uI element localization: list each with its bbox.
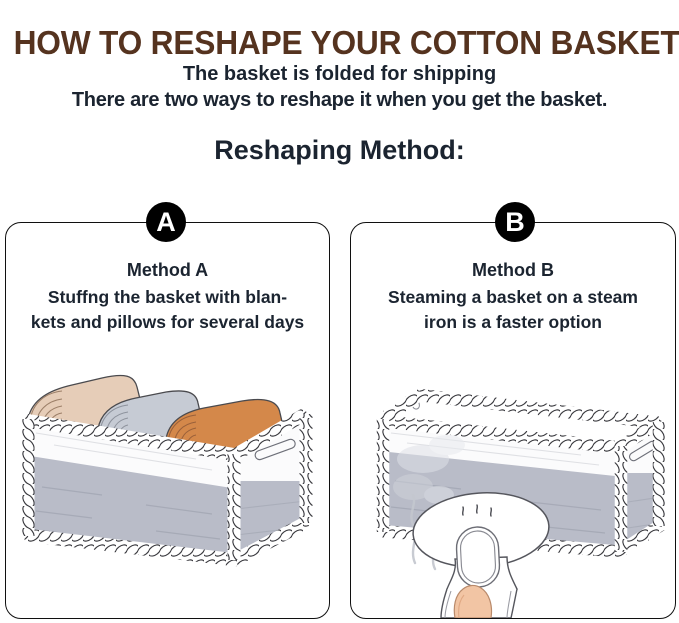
method-b-description: Steaming a basket on a steam iron is a f…	[359, 285, 667, 335]
method-a-desc-line-2: kets and pillows for several days	[31, 312, 304, 332]
basket-blankets-illustration	[6, 363, 329, 618]
method-a-title: Method A	[6, 259, 329, 282]
method-a-badge: A	[146, 202, 186, 242]
method-card-a: Method A Stuffng the basket with blan- k…	[5, 222, 330, 619]
basket-steam-iron-illustration	[351, 363, 675, 618]
page-title: HOW TO RESHAPE YOUR COTTON BASKET	[14, 24, 666, 62]
method-b-title: Method B	[351, 259, 675, 282]
subtitle-line-1: The basket is folded for shipping	[0, 62, 679, 87]
iron-button-inner	[460, 530, 497, 584]
method-b-desc-line-1: Steaming a basket on a steam	[388, 287, 638, 307]
method-b-desc-line-2: iron is a faster option	[424, 312, 602, 332]
method-b-badge: B	[495, 202, 535, 242]
infographic-page: HOW TO RESHAPE YOUR COTTON BASKET The ba…	[0, 0, 679, 623]
subtitle-line-2: There are two ways to reshape it when yo…	[0, 88, 679, 113]
method-a-description: Stuffng the basket with blan- kets and p…	[14, 285, 321, 335]
section-heading: Reshaping Method:	[0, 134, 679, 167]
method-a-desc-line-1: Stuffng the basket with blan-	[48, 287, 287, 307]
steam-iron	[411, 488, 552, 618]
method-card-b: Method B Steaming a basket on a steam ir…	[350, 222, 676, 619]
